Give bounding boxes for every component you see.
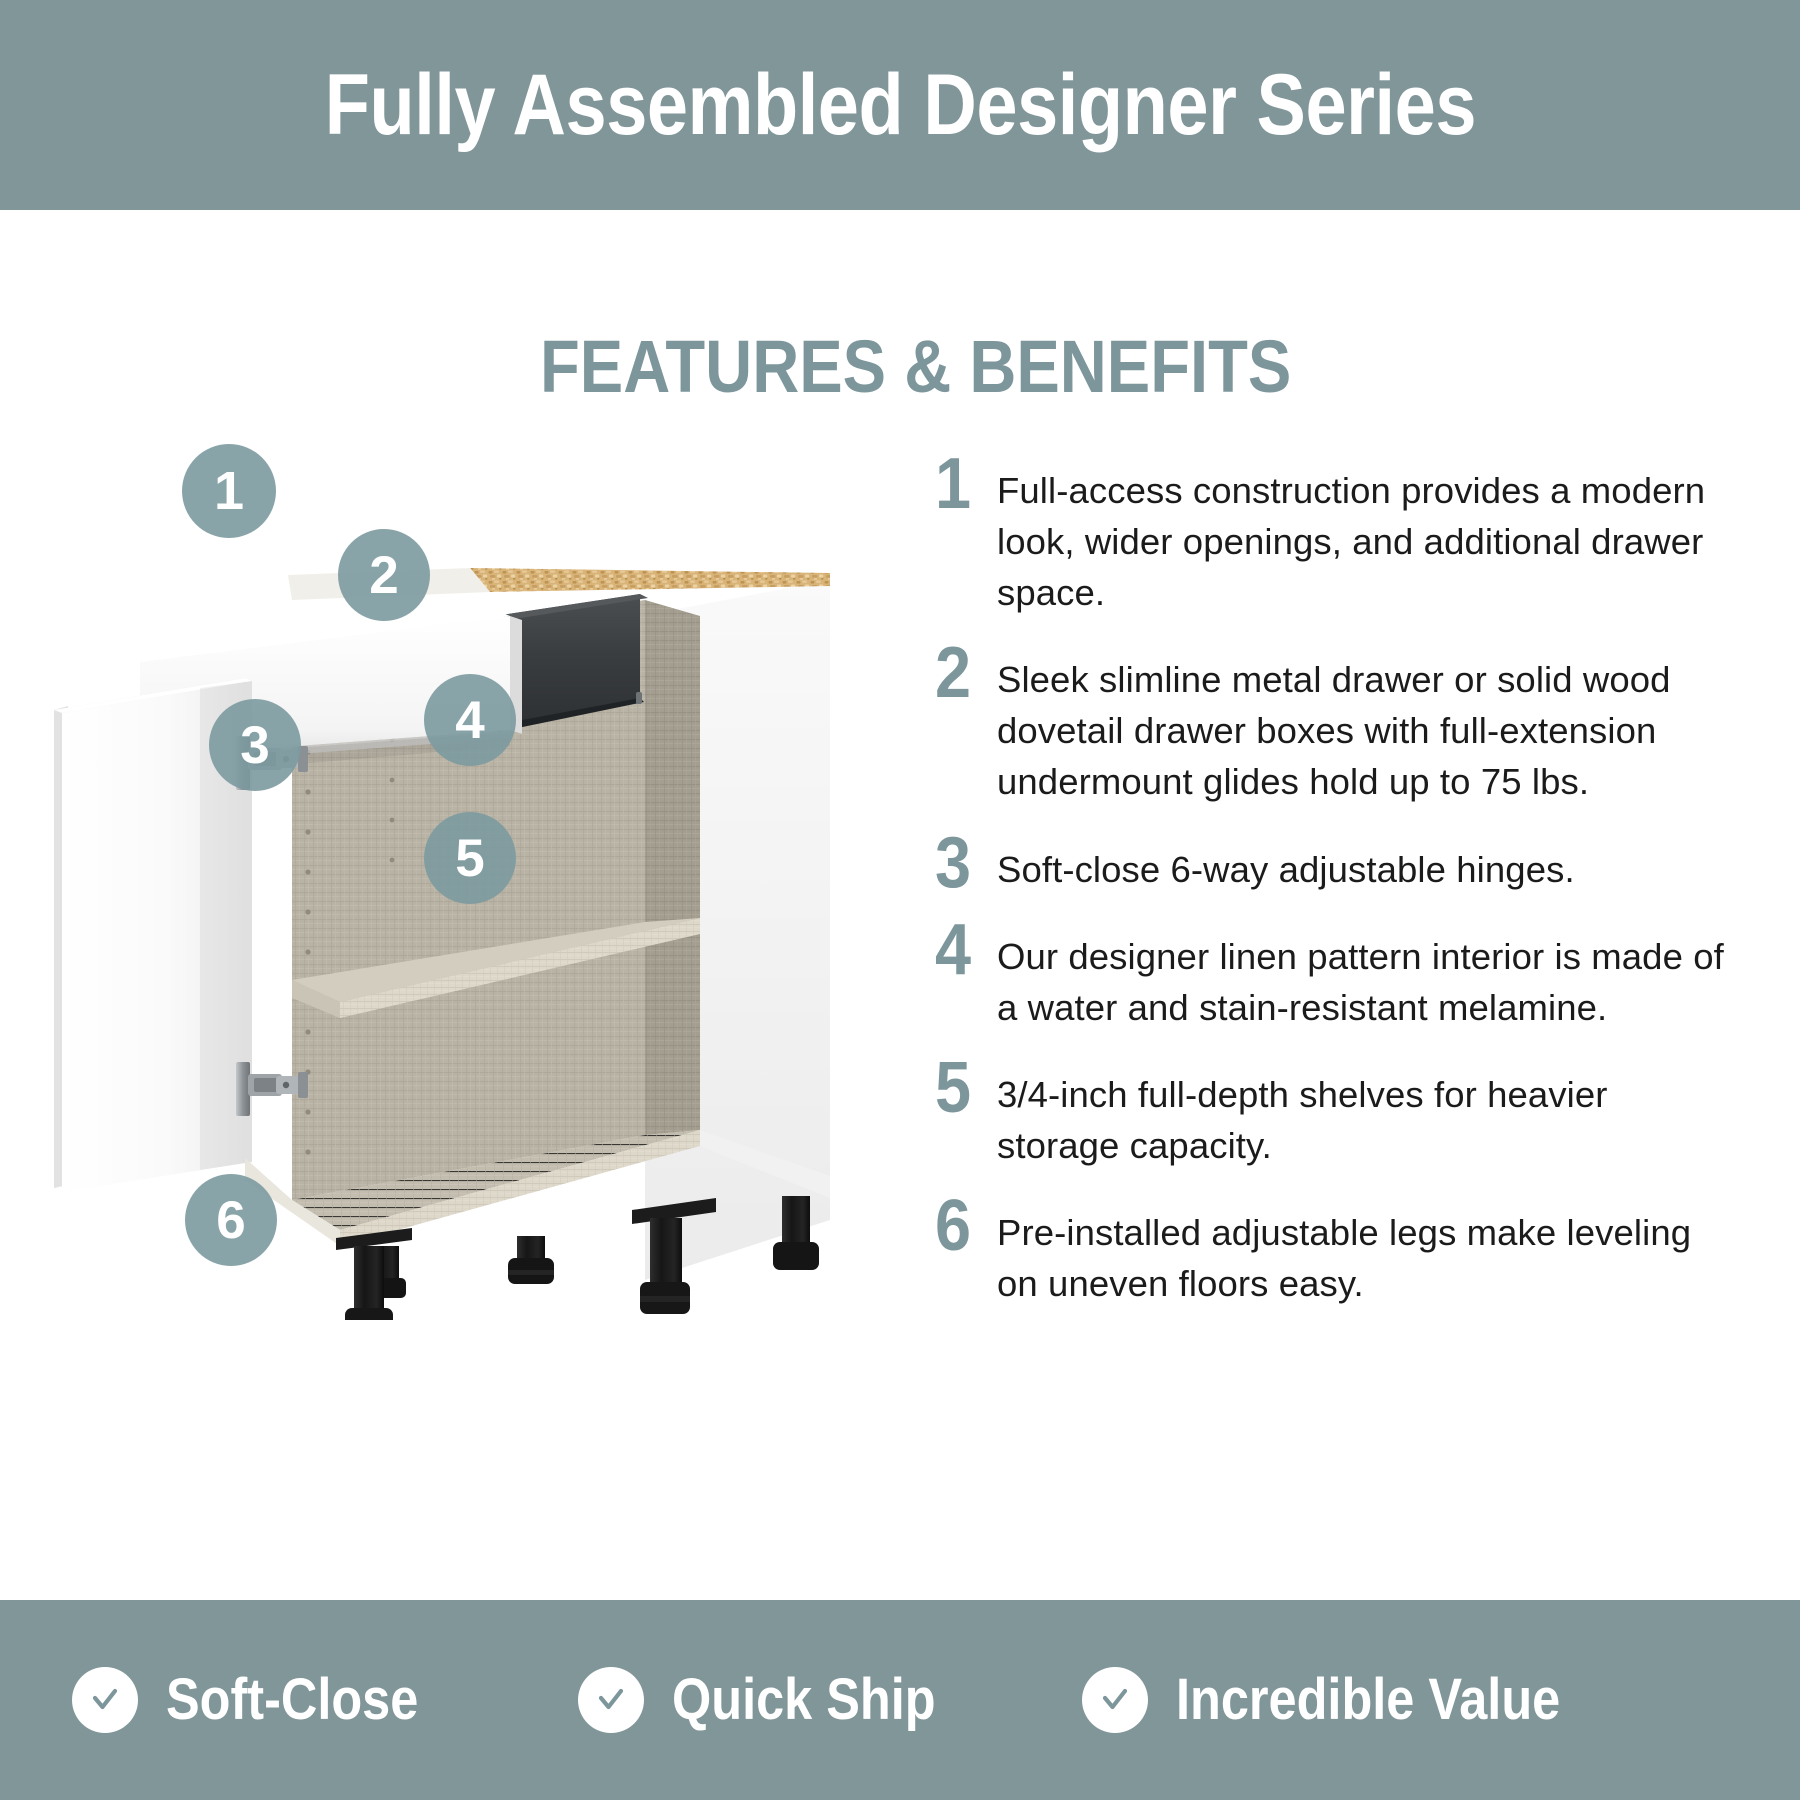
footer-label-incredible-value: Incredible Value xyxy=(1176,1671,1560,1729)
feature-list: 1 Full-access construction provides a mo… xyxy=(935,455,1725,1335)
callout-badge-1[interactable]: 1 xyxy=(182,444,276,538)
feature-number-3: 3 xyxy=(935,834,991,893)
callout-badge-6[interactable]: 6 xyxy=(185,1174,277,1266)
feature-item-2: 2 Sleek slimline metal drawer or solid w… xyxy=(935,644,1725,807)
footer-label-quick-ship: Quick Ship xyxy=(672,1671,936,1729)
interior-right-wall xyxy=(645,600,700,1135)
feature-text-5: 3/4-inch full-depth shelves for heavier … xyxy=(997,1059,1725,1171)
leg-middle xyxy=(508,1236,554,1284)
feature-text-3: Soft-close 6-way adjustable hinges. xyxy=(997,834,1725,895)
feature-text-4: Our designer linen pattern interior is m… xyxy=(997,921,1725,1033)
feature-number-6: 6 xyxy=(935,1197,991,1256)
feature-number-4: 4 xyxy=(935,921,991,980)
footer-badge-incredible-value: Incredible Value xyxy=(1082,1667,1618,1733)
header-band: Fully Assembled Designer Series xyxy=(0,0,1800,210)
feature-item-3: 3 Soft-close 6-way adjustable hinges. xyxy=(935,834,1725,895)
check-circle-icon xyxy=(1082,1667,1148,1733)
section-heading: FEATURES & BENEFITS xyxy=(540,330,1291,404)
feature-number-2: 2 xyxy=(935,644,991,703)
page-title: Fully Assembled Designer Series xyxy=(324,62,1475,148)
check-circle-icon xyxy=(72,1667,138,1733)
callout-badge-5[interactable]: 5 xyxy=(424,812,516,904)
footer-badge-quick-ship: Quick Ship xyxy=(578,1667,975,1733)
feature-number-5: 5 xyxy=(935,1059,991,1118)
feature-text-1: Full-access construction provides a mode… xyxy=(997,455,1725,618)
footer-band: Soft-Close Quick Ship Incredible Value xyxy=(0,1600,1800,1800)
callout-badge-3[interactable]: 3 xyxy=(209,699,301,791)
feature-text-2: Sleek slimline metal drawer or solid woo… xyxy=(997,644,1725,807)
feature-number-1: 1 xyxy=(935,455,991,514)
drawer-glide-bracket xyxy=(636,692,642,704)
leg-front-left xyxy=(336,1228,412,1320)
callout-badge-2[interactable]: 2 xyxy=(338,529,430,621)
product-feature-infographic: Fully Assembled Designer Series FEATURES… xyxy=(0,0,1800,1800)
feature-item-6: 6 Pre-installed adjustable legs make lev… xyxy=(935,1197,1725,1309)
callout-badge-4[interactable]: 4 xyxy=(424,674,516,766)
check-circle-icon xyxy=(578,1667,644,1733)
feature-text-6: Pre-installed adjustable legs make level… xyxy=(997,1197,1725,1309)
feature-item-4: 4 Our designer linen pattern interior is… xyxy=(935,921,1725,1033)
footer-badge-soft-close: Soft-Close xyxy=(72,1667,456,1733)
feature-item-5: 5 3/4-inch full-depth shelves for heavie… xyxy=(935,1059,1725,1171)
feature-item-1: 1 Full-access construction provides a mo… xyxy=(935,455,1725,618)
footer-label-soft-close: Soft-Close xyxy=(166,1671,418,1729)
